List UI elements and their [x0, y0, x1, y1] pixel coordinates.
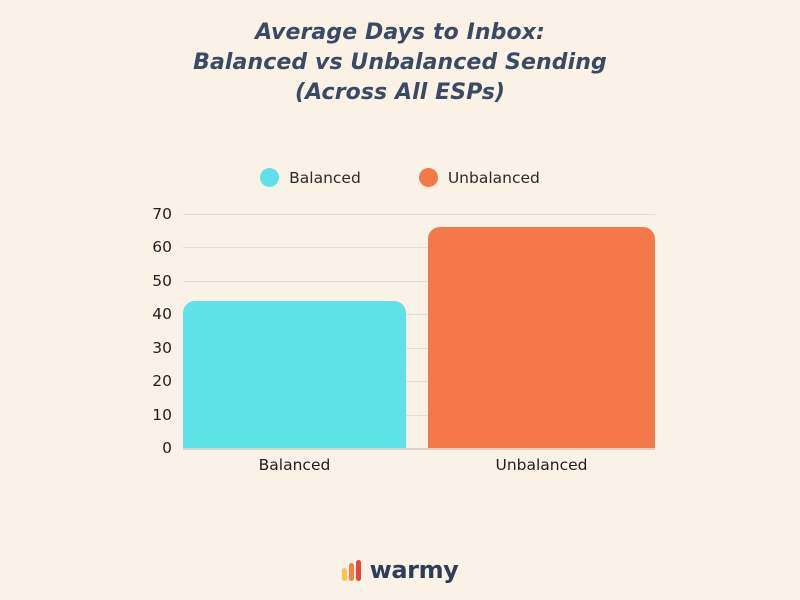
logo-bar-orange — [349, 563, 354, 581]
warmy-logo-mark-icon — [342, 560, 361, 581]
logo-bar-red — [356, 560, 361, 581]
bar-balanced[interactable] — [183, 301, 406, 448]
y-tick-label: 0 — [128, 440, 172, 456]
x-axis-tick-labels: Balanced Unbalanced — [183, 456, 655, 480]
logo-bar-yellow — [342, 568, 347, 581]
bar-series-container — [183, 214, 655, 448]
x-tick-label-unbalanced: Unbalanced — [428, 456, 655, 474]
y-tick-label: 40 — [128, 306, 172, 322]
y-tick-label: 30 — [128, 340, 172, 356]
warmy-logo: warmy — [0, 556, 800, 584]
y-tick-label: 20 — [128, 373, 172, 389]
y-axis-tick-labels: 70 60 50 40 30 20 10 0 — [110, 0, 172, 600]
y-tick-label: 60 — [128, 239, 172, 255]
y-tick-label: 50 — [128, 273, 172, 289]
x-axis-baseline — [183, 448, 655, 450]
warmy-wordmark: warmy — [370, 556, 459, 584]
bar-unbalanced[interactable] — [428, 227, 655, 448]
bar-chart-plot-area: 70 60 50 40 30 20 10 0 Balanced Unbalanc… — [0, 0, 800, 600]
y-tick-label: 70 — [128, 206, 172, 222]
x-tick-label-balanced: Balanced — [183, 456, 406, 474]
y-tick-label: 10 — [128, 407, 172, 423]
